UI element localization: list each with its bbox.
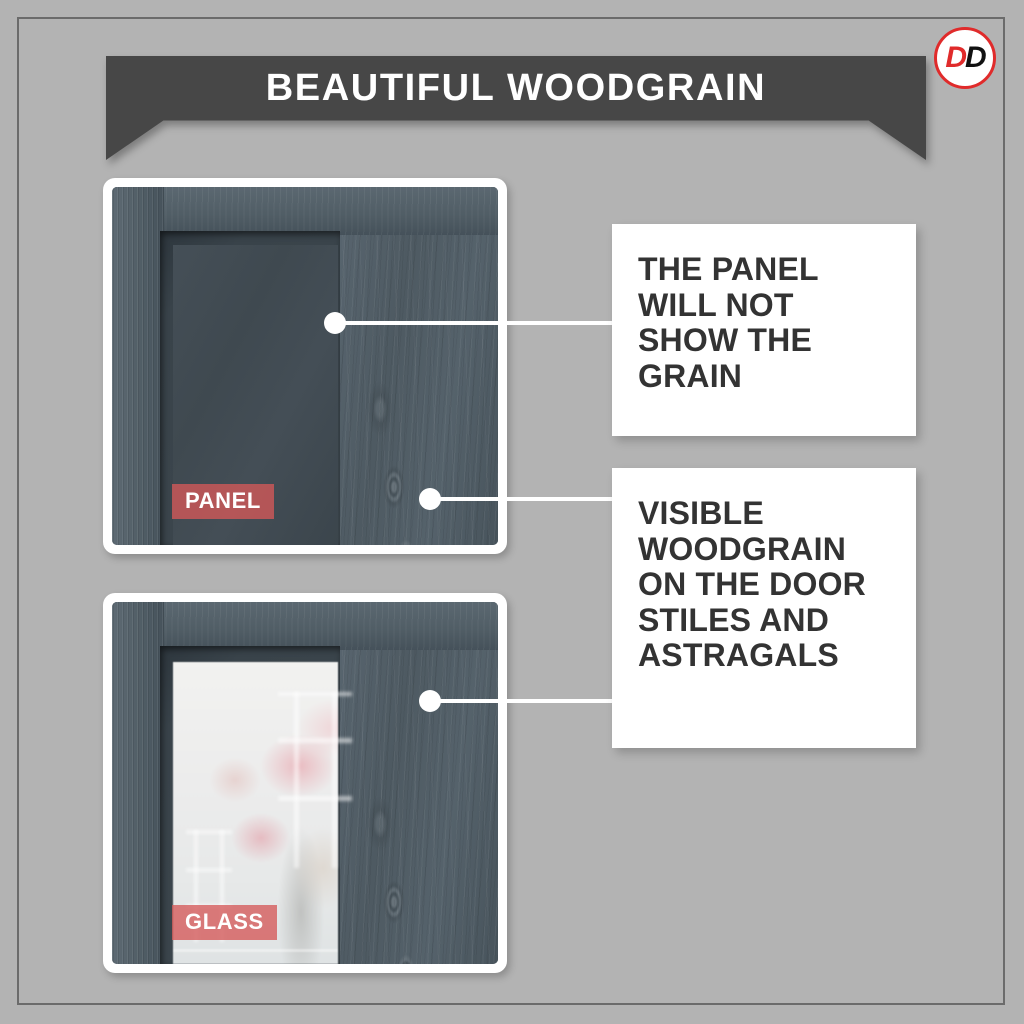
door-left-stile (112, 187, 164, 545)
door-top-rail (112, 187, 498, 235)
callout-line: STILES AND (638, 603, 894, 639)
infographic-root: DD BEAUTIFUL WOODGRAIN PANEL (0, 0, 1024, 1024)
callout-line: VISIBLE (638, 496, 894, 532)
logo-letter-first: D (945, 43, 965, 73)
callout-line: GRAIN (638, 359, 894, 395)
callout-visible-woodgrain: VISIBLE WOODGRAIN ON THE DOOR STILES AND… (612, 468, 916, 748)
logo-letter-second: D (965, 43, 985, 73)
title-banner: BEAUTIFUL WOODGRAIN (106, 56, 926, 160)
leader-dot-panel (324, 312, 346, 334)
callout-line: SHOW THE (638, 323, 894, 359)
leader-line-stile-top (430, 497, 613, 501)
door-stile-woodgrain (336, 187, 498, 545)
status-badge-glass: GLASS (172, 905, 277, 940)
door-panel-photo: PANEL (112, 187, 498, 545)
callout-line: WILL NOT (638, 288, 894, 324)
callout-line: WOODGRAIN (638, 532, 894, 568)
callout-line: ASTRAGALS (638, 638, 894, 674)
dd-logo[interactable]: DD (934, 27, 996, 89)
callout-panel-grain: THE PANEL WILL NOT SHOW THE GRAIN (612, 224, 916, 436)
callout-line: THE PANEL (638, 252, 894, 288)
page-title: BEAUTIFUL WOODGRAIN (106, 56, 926, 120)
leader-dot-stile-top (419, 488, 441, 510)
status-badge-panel: PANEL (172, 484, 274, 519)
door-stile-woodgrain (336, 602, 498, 964)
door-glass-photo-card: GLASS (103, 593, 507, 973)
door-glass-photo: GLASS (112, 602, 498, 964)
leader-dot-stile-bottom (419, 690, 441, 712)
door-left-stile (112, 602, 164, 964)
callout-line: ON THE DOOR (638, 567, 894, 603)
door-top-rail (112, 602, 498, 650)
leader-line-stile-bottom (430, 699, 613, 703)
leader-line-panel (335, 321, 613, 325)
